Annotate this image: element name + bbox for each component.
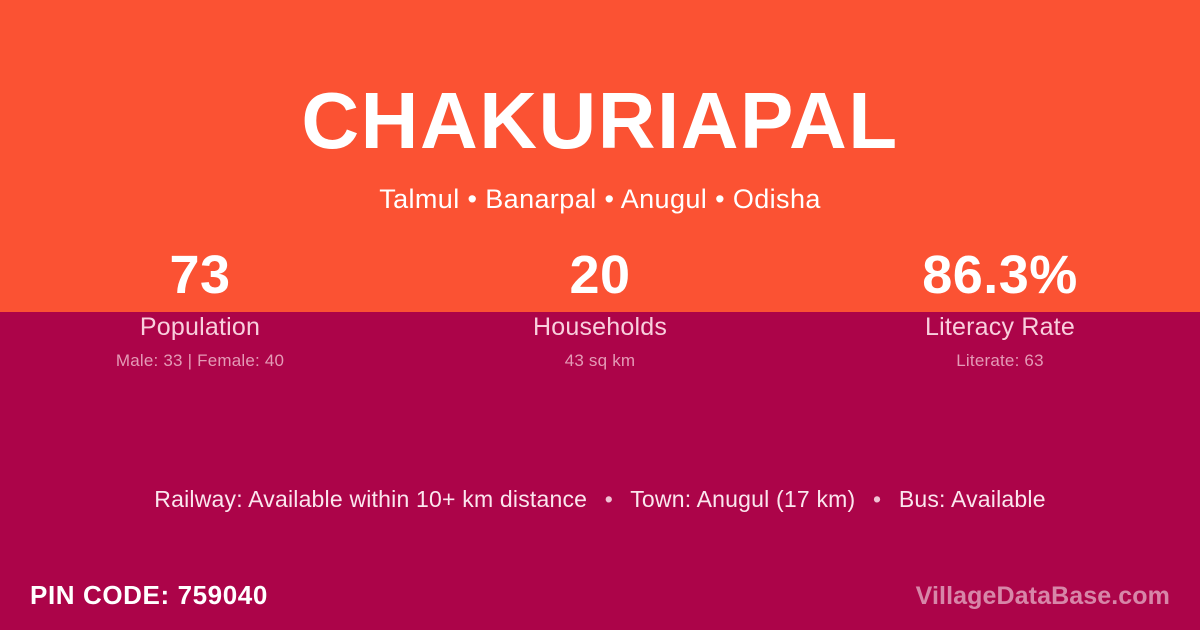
stat-population: 73 Population Male: 33 | Female: 40 [0,246,400,371]
town-info: Town: Anugul (17 km) [630,486,855,512]
bullet-separator-icon: • [862,484,892,514]
stat-subtext: Male: 33 | Female: 40 [0,351,400,371]
pin-code: PIN CODE: 759040 [30,579,268,611]
stat-label: Population [0,312,400,342]
stat-subtext: Literate: 63 [800,351,1200,371]
stat-value: 73 [0,246,400,304]
amenities-row: Railway: Available within 10+ km distanc… [0,484,1200,514]
stat-value: 20 [400,246,800,304]
bus-info: Bus: Available [899,486,1046,512]
page-title: CHAKURIAPAL [0,78,1200,164]
stat-literacy-rate: 86.3% Literacy Rate Literate: 63 [800,246,1200,371]
bullet-separator-icon: • [594,484,624,514]
railway-info: Railway: Available within 10+ km distanc… [154,486,587,512]
village-info-card: CHAKURIAPAL Talmul • Banarpal • Anugul •… [0,0,1200,630]
stat-label: Households [400,312,800,342]
location-breadcrumb: Talmul • Banarpal • Anugul • Odisha [0,182,1200,216]
stats-row: 73 Population Male: 33 | Female: 40 20 H… [0,246,1200,371]
stat-households: 20 Households 43 sq km [400,246,800,371]
stat-subtext: 43 sq km [400,351,800,371]
stat-value: 86.3% [800,246,1200,304]
stat-label: Literacy Rate [800,312,1200,342]
site-watermark: VillageDataBase.com [916,581,1170,611]
card-footer: PIN CODE: 759040 VillageDataBase.com [0,568,1200,630]
